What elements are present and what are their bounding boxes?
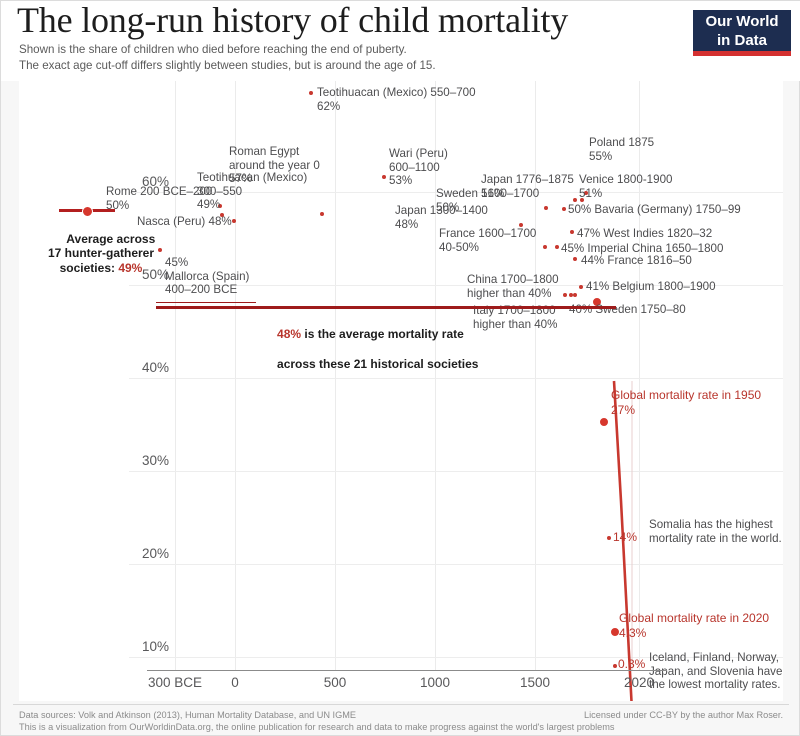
chart-page: The long-run history of child mortality … — [0, 0, 800, 736]
plot-area: Teotihuacan (Mexico) 550–700 62%Roman Eg… — [19, 81, 783, 701]
global-rate-point[interactable] — [599, 417, 609, 427]
average-mortality-note: 48% is the average mortality rate across… — [257, 312, 478, 387]
data-point[interactable] — [320, 212, 324, 216]
y-axis-tick: 40% — [142, 360, 169, 375]
average-note-line-2: across these 21 historical societies — [277, 357, 478, 371]
x-axis-tick: 2020 — [624, 675, 654, 690]
horizontal-gridline — [129, 564, 783, 565]
data-point-label: 50% Bavaria (Germany) 1750–99 — [568, 203, 741, 217]
global-rate-callout: Global mortality rate in 1950 27% — [611, 388, 761, 417]
data-point-label: 45% Mallorca (Spain) 400–200 BCE — [165, 256, 249, 297]
footer-divider — [13, 704, 789, 705]
data-point[interactable] — [309, 91, 313, 95]
country-point-value: 14% — [613, 531, 637, 545]
data-point-label: Venice 1800-1900 51% — [579, 173, 672, 200]
x-axis-tick: 500 — [324, 675, 347, 690]
vertical-gridline — [175, 81, 176, 670]
y-axis-tick: 50% — [142, 267, 169, 282]
page-title: The long-run history of child mortality — [17, 0, 568, 41]
data-point-label: Teotihuacan (Mexico) 550–700 62% — [317, 86, 476, 113]
average-line-underline — [156, 302, 256, 303]
average-mortality-line — [156, 306, 616, 309]
vertical-gridline — [639, 81, 640, 670]
x-axis-line — [147, 670, 667, 671]
data-point-label: Teotihuacan (Mexico) 300–550 49% — [197, 171, 307, 212]
country-point-note: Somalia has the highest mortality rate i… — [649, 518, 782, 545]
x-axis-tick: 300 BCE — [148, 675, 202, 690]
logo-line-2: in Data — [693, 31, 791, 50]
data-point[interactable] — [555, 245, 559, 249]
logo-line-1: Our World — [705, 13, 778, 30]
country-point[interactable] — [607, 536, 611, 540]
data-point-label: France 1600–1700 40-50% — [439, 227, 536, 254]
data-point-label: Japan 1776–1875 51% — [481, 173, 574, 200]
average-value: 48% — [277, 327, 301, 341]
data-point[interactable] — [232, 219, 236, 223]
x-axis-tick: 1000 — [420, 675, 450, 690]
data-point-label: 41% Belgium 1800–1900 — [586, 280, 716, 294]
data-point[interactable] — [573, 257, 577, 261]
data-point[interactable] — [570, 230, 574, 234]
subtitle-line-2: The exact age cut-off differs slightly b… — [19, 59, 436, 72]
y-axis-tick: 30% — [142, 453, 169, 468]
x-axis-tick: 1500 — [520, 675, 550, 690]
data-point[interactable] — [543, 245, 547, 249]
data-point[interactable] — [562, 207, 566, 211]
y-axis-tick: 10% — [142, 639, 169, 654]
data-point[interactable] — [544, 206, 548, 210]
data-point[interactable] — [573, 293, 577, 297]
data-point[interactable] — [382, 175, 386, 179]
footer-license: Licensed under CC-BY by the author Max R… — [584, 710, 783, 720]
average-note-line-1: is the average mortality rate — [301, 327, 464, 341]
data-point-label: Poland 1875 55% — [589, 136, 654, 163]
global-rate-callout: Global mortality rate in 2020 4.3% — [619, 611, 769, 640]
subtitle-line-1: Shown is the share of children who died … — [19, 43, 407, 56]
hunter-gatherer-marker-dot — [82, 206, 93, 217]
footer-sources: Data sources: Volk and Atkinson (2013), … — [19, 710, 356, 720]
data-point-label: Wari (Peru) 600–1100 53% — [389, 147, 448, 188]
x-axis-tick: 0 — [231, 675, 239, 690]
country-point[interactable] — [613, 664, 617, 668]
chart-header: The long-run history of child mortality … — [1, 1, 800, 81]
data-point[interactable] — [563, 293, 567, 297]
vertical-gridline — [535, 81, 536, 670]
horizontal-gridline — [129, 471, 783, 472]
data-point-label: 44% France 1816–50 — [581, 254, 692, 268]
data-point[interactable] — [579, 285, 583, 289]
y-axis-tick: 20% — [142, 546, 169, 561]
our-world-in-data-logo[interactable]: Our World in Data — [693, 10, 791, 56]
footer-visualization: This is a visualization from OurWorldinD… — [19, 722, 615, 732]
hunter-gatherer-value: 49% — [118, 261, 142, 275]
data-point-label: China 1700–1800 higher than 40% — [467, 273, 559, 300]
y-axis-tick: 60% — [142, 174, 169, 189]
data-point-label: 47% West Indies 1820–32 — [577, 227, 712, 241]
country-point-note: Iceland, Finland, Norway, Japan, and Slo… — [649, 651, 782, 692]
